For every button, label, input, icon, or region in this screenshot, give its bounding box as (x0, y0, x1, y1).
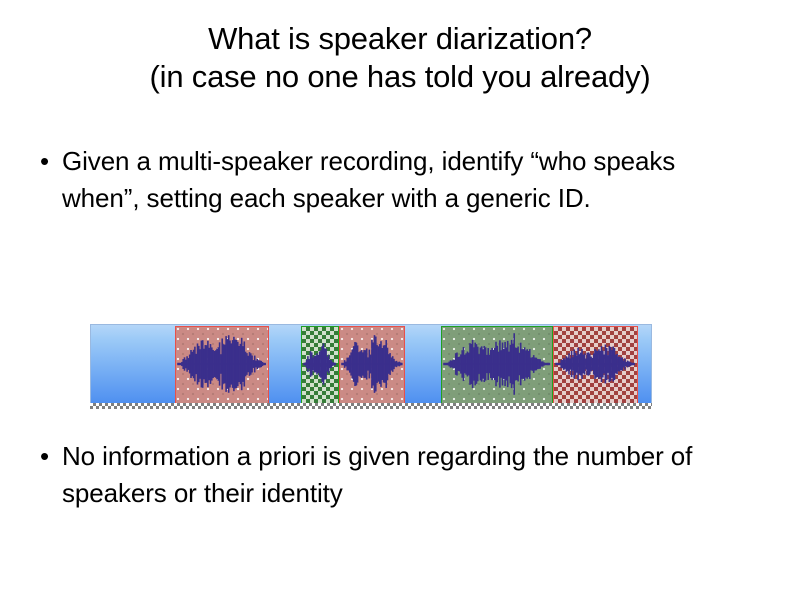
title-line-2: (in case no one has told you already) (0, 58, 800, 96)
speaker-diarization-waveform-figure (90, 324, 652, 404)
bullet-text-2: No information a priori is given regardi… (62, 438, 742, 512)
bullet-item-2: • No information a priori is given regar… (36, 438, 766, 512)
waveform-panel (90, 324, 652, 404)
title-line-1: What is speaker diarization? (0, 20, 800, 58)
waveform-segment-speaker-A (339, 326, 405, 404)
slide-canvas: What is speaker diarization? (in case no… (0, 0, 800, 599)
waveform-segment-speaker-A (175, 326, 269, 404)
page-title: What is speaker diarization? (in case no… (0, 20, 800, 96)
bullet-marker-icon: • (36, 143, 62, 180)
bullet-marker-icon: • (36, 438, 62, 475)
waveform-segment-speaker-C (441, 326, 553, 404)
waveform-segment-speaker-D (553, 326, 638, 404)
waveform-bottom-strip (90, 403, 652, 409)
waveform-segment-speaker-B (301, 326, 339, 404)
bullet-item-1: • Given a multi-speaker recording, ident… (36, 143, 766, 217)
bullet-text-1: Given a multi-speaker recording, identif… (62, 143, 742, 217)
